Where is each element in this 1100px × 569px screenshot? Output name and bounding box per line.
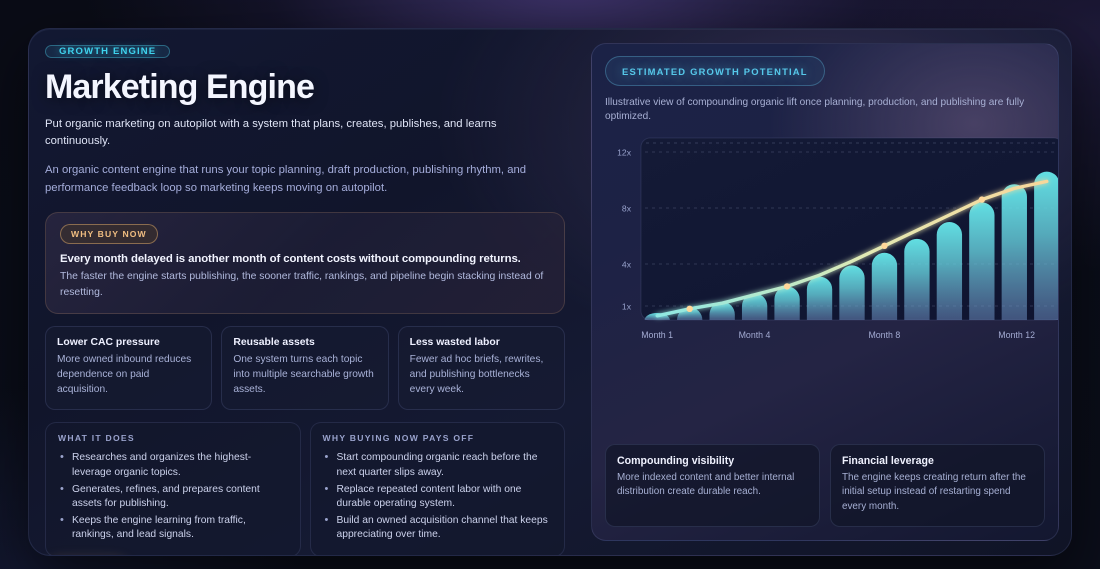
benefit-text: Fewer ad hoc briefs, rewrites, and publi… <box>410 352 553 397</box>
svg-text:12x: 12x <box>617 148 632 158</box>
benefit-title: Lower CAC pressure <box>57 337 200 348</box>
panel-card-text: More indexed content and better internal… <box>617 471 808 500</box>
benefit-text: More owned inbound reduces dependence on… <box>57 352 200 397</box>
trend-marker <box>686 306 692 312</box>
growth-potential-panel: ESTIMATED GROWTH POTENTIAL Illustrative … <box>591 43 1059 541</box>
why-buy-now-card: WHY BUY NOW Every month delayed is anoth… <box>45 212 565 314</box>
what-it-does-card: WHAT IT DOES Researches and organizes th… <box>45 422 301 556</box>
benefit-card: Reusable assets One system turns each to… <box>221 326 388 410</box>
trend-marker <box>979 197 985 203</box>
chart-bar <box>969 203 994 321</box>
why-buy-now-pill: WHY BUY NOW <box>60 224 158 244</box>
panel-card-text: The engine keeps creating return after t… <box>842 471 1033 514</box>
chart-bar <box>872 253 897 320</box>
list-item: Generates, refines, and prepares content… <box>72 483 288 512</box>
list-item: Build an owned acquisition channel that … <box>337 514 553 543</box>
svg-text:1x: 1x <box>622 302 632 312</box>
list-item: Keeps the engine learning from traffic, … <box>72 514 288 543</box>
why-buying-now-pays-off-list: Start compounding organic reach before t… <box>323 451 553 543</box>
chart-bar <box>1034 172 1059 320</box>
page-title: Marketing Engine <box>45 69 565 105</box>
right-column: ESTIMATED GROWTH POTENTIAL Illustrative … <box>583 29 1071 555</box>
chart-bar <box>1002 184 1027 320</box>
list-item: Start compounding organic reach before t… <box>337 451 553 480</box>
list-label: WHAT IT DOES <box>58 433 288 443</box>
why-buying-now-pays-off-card: WHY BUYING NOW PAYS OFF Start compoundin… <box>310 422 566 556</box>
benefit-card: Less wasted labor Fewer ad hoc briefs, r… <box>398 326 565 410</box>
subtitle-paragraph: An organic content engine that runs your… <box>45 162 537 197</box>
growth-engine-badge: GROWTH ENGINE <box>45 45 170 58</box>
chart-bar <box>904 239 929 320</box>
svg-text:Month 8: Month 8 <box>868 330 900 340</box>
chart-bar <box>937 222 962 320</box>
benefit-title: Less wasted labor <box>410 337 553 348</box>
compounding-visibility-card: Compounding visibility More indexed cont… <box>605 444 820 527</box>
growth-chart-svg: 1x4x8x12xMonth 1Month 4Month 8Month 12 <box>605 134 1059 346</box>
estimated-growth-potential-pill: ESTIMATED GROWTH POTENTIAL <box>605 56 825 86</box>
lead-paragraph: Put organic marketing on autopilot with … <box>45 116 545 150</box>
chart-bar <box>839 266 864 321</box>
panel-card-title: Compounding visibility <box>617 455 808 467</box>
detail-list-row: WHAT IT DOES Researches and organizes th… <box>45 422 565 556</box>
marketing-engine-card: GROWTH ENGINE Marketing Engine Put organ… <box>28 28 1072 556</box>
benefit-title: Reusable assets <box>233 337 376 348</box>
svg-text:8x: 8x <box>622 204 632 214</box>
benefit-card-row: Lower CAC pressure More owned inbound re… <box>45 326 565 410</box>
svg-text:Month 12: Month 12 <box>998 330 1035 340</box>
benefit-card: Lower CAC pressure More owned inbound re… <box>45 326 212 410</box>
svg-text:Month 1: Month 1 <box>641 330 673 340</box>
why-buy-now-headline: Every month delayed is another month of … <box>60 253 550 265</box>
list-label: WHY BUYING NOW PAYS OFF <box>323 433 553 443</box>
trend-marker <box>881 243 887 249</box>
financial-leverage-card: Financial leverage The engine keeps crea… <box>830 444 1045 527</box>
svg-text:Month 4: Month 4 <box>739 330 771 340</box>
benefit-text: One system turns each topic into multipl… <box>233 352 376 397</box>
why-buy-now-body: The faster the engine starts publishing,… <box>60 269 550 300</box>
panel-card-title: Financial leverage <box>842 455 1033 467</box>
chart-bar <box>774 287 799 321</box>
panel-card-row: Compounding visibility More indexed cont… <box>605 444 1045 527</box>
chart-bar <box>807 277 832 320</box>
svg-text:4x: 4x <box>622 260 632 270</box>
growth-chart: 1x4x8x12xMonth 1Month 4Month 8Month 12 <box>605 134 1045 346</box>
list-item: Researches and organizes the highest-lev… <box>72 451 288 480</box>
trend-marker <box>784 283 790 289</box>
what-it-does-list: Researches and organizes the highest-lev… <box>58 451 288 543</box>
panel-note: Illustrative view of compounding organic… <box>605 96 1045 124</box>
list-item: Replace repeated content labor with one … <box>337 483 553 512</box>
left-column: GROWTH ENGINE Marketing Engine Put organ… <box>29 29 583 555</box>
